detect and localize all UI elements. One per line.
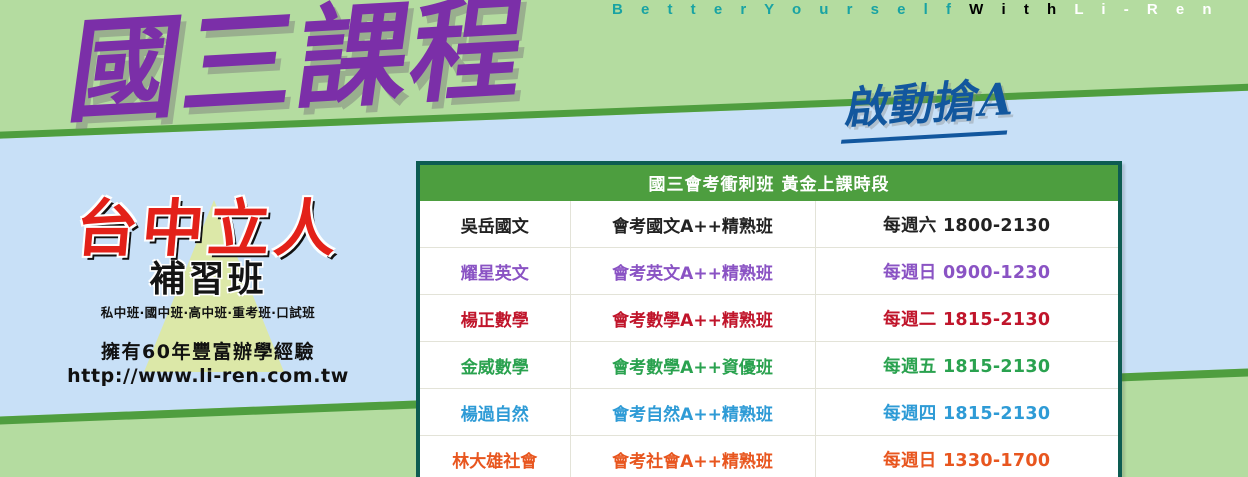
tagline: B e t t e r Y o u r s e l f W i t h L i … xyxy=(612,1,1219,18)
tagline-part2: W i t h xyxy=(969,1,1063,18)
cell-time: 每週日 0900-1230 xyxy=(815,248,1118,295)
cell-time: 每週四 1815-2130 xyxy=(815,389,1118,436)
headline-text: 國三課程 xyxy=(62,0,534,133)
cell-teacher: 吳岳國文 xyxy=(420,201,570,248)
schedule-table-title: 國三會考衝刺班 黃金上課時段 xyxy=(420,165,1118,201)
cell-course: 會考社會A++精熟班 xyxy=(570,436,815,477)
cell-time: 每週日 1330-1700 xyxy=(815,436,1118,477)
table-row: 楊正數學會考數學A++精熟班每週二 1815-2130 xyxy=(420,295,1118,342)
cell-teacher: 楊過自然 xyxy=(420,389,570,436)
cell-time: 每週六 1800-2130 xyxy=(815,201,1118,248)
logo-school-name: 台中立人 xyxy=(15,196,401,262)
table-row: 楊過自然會考自然A++精熟班每週四 1815-2130 xyxy=(420,389,1118,436)
schedule-table: 國三會考衝刺班 黃金上課時段 吳岳國文會考國文A++精熟班每週六 1800-21… xyxy=(420,165,1118,477)
table-row: 吳岳國文會考國文A++精熟班每週六 1800-2130 xyxy=(420,201,1118,248)
cell-course: 會考英文A++精熟班 xyxy=(570,248,815,295)
school-logo-block: 台中立人 補習班 私中班‧國中班‧高中班‧重考班‧口試班 擁有60年豐富辦學經驗… xyxy=(18,196,398,387)
headline: 國三課程 xyxy=(62,0,534,133)
subheadline: 啟動搶A xyxy=(841,63,1018,144)
cell-course: 會考數學A++精熟班 xyxy=(570,295,815,342)
cell-time: 每週二 1815-2130 xyxy=(815,295,1118,342)
cell-course: 會考自然A++精熟班 xyxy=(570,389,815,436)
table-row: 林大雄社會會考社會A++精熟班每週日 1330-1700 xyxy=(420,436,1118,477)
table-header-row: 國三會考衝刺班 黃金上課時段 xyxy=(420,165,1118,201)
cell-teacher: 楊正數學 xyxy=(420,295,570,342)
cell-teacher: 耀星英文 xyxy=(420,248,570,295)
logo-experience-text: 擁有60年豐富辦學經驗 xyxy=(18,337,398,364)
cell-course: 會考國文A++精熟班 xyxy=(570,201,815,248)
cell-teacher: 金威數學 xyxy=(420,342,570,389)
logo-course-list: 私中班‧國中班‧高中班‧重考班‧口試班 xyxy=(18,302,398,321)
cell-time: 每週五 1815-2130 xyxy=(815,342,1118,389)
schedule-table-container: 國三會考衝刺班 黃金上課時段 吳岳國文會考國文A++精熟班每週六 1800-21… xyxy=(416,161,1122,477)
promo-poster: B e t t e r Y o u r s e l f W i t h L i … xyxy=(0,0,1248,477)
subheadline-text: 啟動搶A xyxy=(841,63,1018,144)
logo-school-type: 補習班 xyxy=(18,260,398,300)
schedule-table-body: 吳岳國文會考國文A++精熟班每週六 1800-2130耀星英文會考英文A++精熟… xyxy=(420,201,1118,477)
logo-website-url[interactable]: http://www.li-ren.com.tw xyxy=(18,365,398,387)
tagline-part3: L i - R e n xyxy=(1074,1,1218,18)
cell-teacher: 林大雄社會 xyxy=(420,436,570,477)
table-row: 金威數學會考數學A++資優班每週五 1815-2130 xyxy=(420,342,1118,389)
cell-course: 會考數學A++資優班 xyxy=(570,342,815,389)
table-row: 耀星英文會考英文A++精熟班每週日 0900-1230 xyxy=(420,248,1118,295)
tagline-part1: B e t t e r Y o u r s e l f xyxy=(612,1,958,18)
